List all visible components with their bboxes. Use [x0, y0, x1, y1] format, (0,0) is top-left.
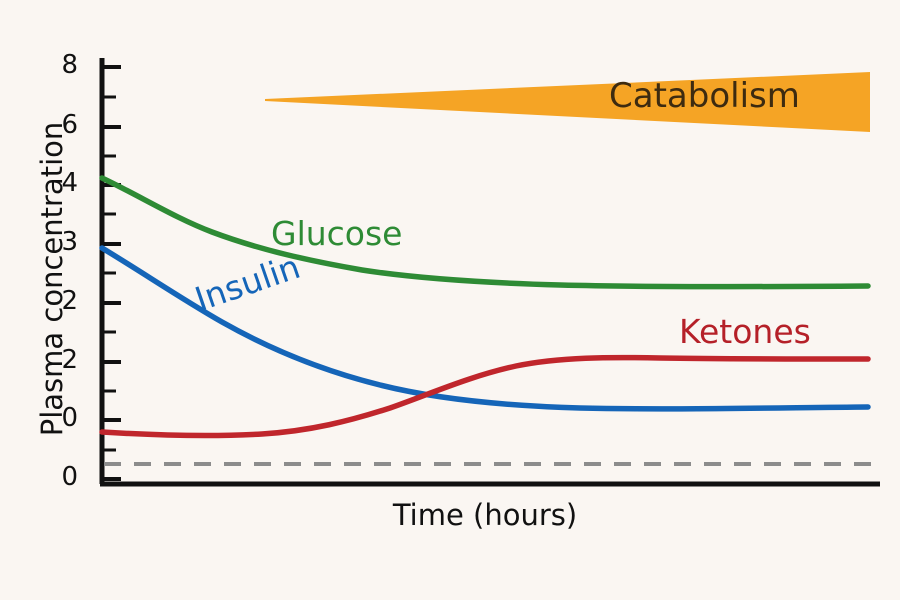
- y-tick-label-2b: 2: [38, 345, 78, 375]
- annotation-label-catabolism: Catabolism: [609, 76, 800, 116]
- chart-figure: Plasma concentration Time (hours) 8 6 4 …: [0, 0, 900, 600]
- y-tick-label-4: 4: [38, 168, 78, 198]
- y-tick-label-0a: 0: [38, 403, 78, 433]
- y-tick-label-2a: 2: [38, 286, 78, 316]
- y-tick-label-8: 8: [38, 50, 78, 80]
- y-axis-title: Plasma concentration: [35, 109, 69, 449]
- y-tick-label-3: 3: [38, 227, 78, 257]
- series-label-ketones: Ketones: [679, 312, 811, 351]
- x-axis-title: Time (hours): [160, 498, 810, 532]
- y-tick-label-6: 6: [38, 110, 78, 140]
- y-tick-label-0b: 0: [38, 462, 78, 492]
